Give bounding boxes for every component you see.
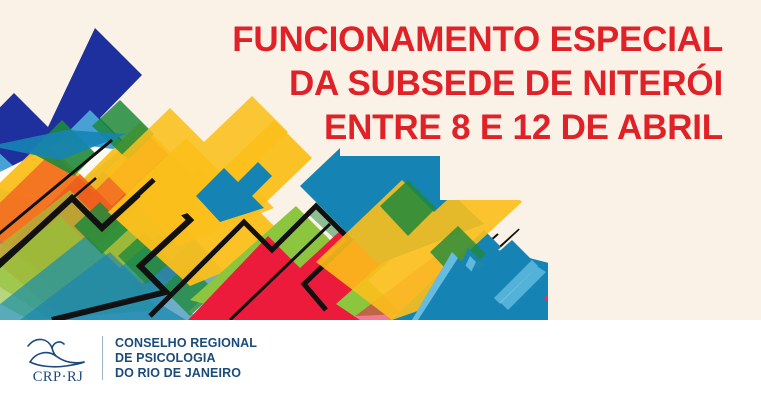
crp-rj-bird-book-icon: CRP·RJ xyxy=(22,332,94,384)
artwork-empty-topright xyxy=(440,0,761,200)
arrow-collage-svg xyxy=(0,0,761,320)
crp-rj-logo[interactable]: CRP·RJ CONSELHO REGIONAL DE PSICOLOGIA D… xyxy=(22,332,257,384)
footer-bar: CRP·RJ CONSELHO REGIONAL DE PSICOLOGIA D… xyxy=(0,320,761,400)
logo-wordmark: CONSELHO REGIONAL DE PSICOLOGIA DO RIO D… xyxy=(115,336,257,381)
logo-word-line-3: DO RIO DE JANEIRO xyxy=(115,366,257,381)
arrow-collage-artwork xyxy=(0,0,761,320)
logo-word-line-2: DE PSICOLOGIA xyxy=(115,351,257,366)
logo-divider xyxy=(102,336,103,380)
banner-graphic: FUNCIONAMENTO ESPECIAL DA SUBSEDE DE NIT… xyxy=(0,0,761,400)
artwork-empty-right-bottom xyxy=(548,276,761,320)
logo-word-line-1: CONSELHO REGIONAL xyxy=(115,336,257,351)
svg-text:CRP·RJ: CRP·RJ xyxy=(33,369,84,384)
